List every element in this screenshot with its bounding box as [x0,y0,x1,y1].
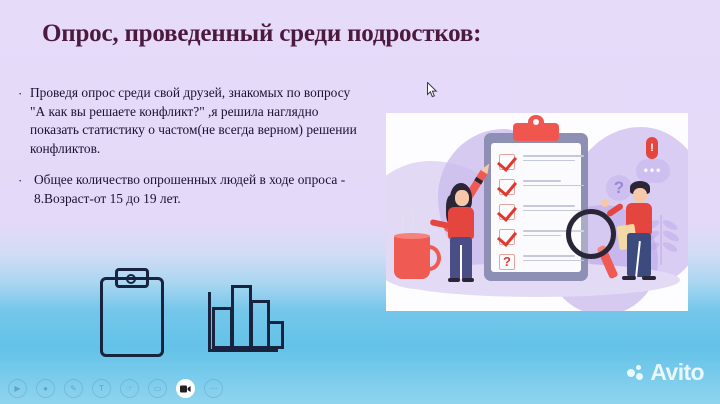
shoe [462,278,474,282]
pen-button[interactable]: ✎ [64,379,83,398]
chart-x-axis [208,349,278,352]
face [455,190,469,206]
video-camera-button[interactable] [176,379,195,398]
video-camera-icon [180,385,191,393]
avito-logo-icon [627,365,645,381]
exclamation-bubble: ! [646,137,658,159]
illustration-canvas: ! ••• ? [386,113,688,311]
bullet-text: Общее количество опрошенных людей в ходе… [30,171,358,208]
checklist-row [499,151,587,173]
presentation-slide: Опрос, проведенный среди подростков: · П… [0,0,720,404]
chart-y-axis [208,292,211,352]
clipboard-icon [100,277,164,357]
clipboard-clip [513,123,559,141]
face [633,188,647,203]
steam-wisp [412,205,415,233]
checkmark-icon [499,154,515,170]
coffee-mug [394,235,430,279]
question-mark-icon: ? [499,254,515,270]
text-button[interactable]: T [92,379,111,398]
frame-button[interactable]: ▭ [148,379,167,398]
text-lines [523,180,587,189]
clipboard-paper: ? [491,143,581,272]
clipboard-hole-icon [126,274,136,284]
dots-bubble: ••• [636,159,670,183]
shoe [448,278,460,282]
text-lines [523,255,587,264]
play-button[interactable]: ▶ [8,379,27,398]
avito-watermark: Avito [627,359,704,386]
chart-bar [212,307,233,349]
bullet-list: · Проведя опрос среди свой друзей, знако… [18,84,358,222]
chart-bar [231,285,252,349]
text-lines [523,155,587,164]
checklist-row: ? [499,251,587,273]
leg-split [460,245,462,279]
bullet-marker: · [18,84,30,103]
mouse-pointer [427,82,438,98]
shoe [642,276,656,280]
hand [601,199,609,207]
checklist-clipboard: ? [484,133,588,281]
woman-figure [438,183,486,287]
bullet-text: Проведя опрос среди свой друзей, знакомы… [30,84,358,158]
mug-rim [394,233,430,239]
page-title: Опрос, проведенный среди подростков: [42,20,481,48]
checkmark-icon [499,179,515,195]
checklist-row [499,176,587,198]
more-button[interactable]: ⋯ [204,379,223,398]
steam-wisp [402,209,405,233]
checkmark-icon [499,204,515,220]
shoe [622,276,636,280]
bar-chart-icon [208,276,278,352]
survey-illustration: ! ••• ? [386,113,688,311]
checkmark-icon [499,229,515,245]
player-toolbar[interactable]: ▶ ● ✎ T ☞ ▭ ⋯ [8,379,223,398]
list-item: · Проведя опрос среди свой друзей, знако… [18,84,358,158]
jacket [448,207,474,239]
pointer-button[interactable]: ☞ [120,379,139,398]
record-button[interactable]: ● [36,379,55,398]
chart-bar [267,321,284,349]
bullet-marker: · [18,171,30,190]
man-figure [616,181,660,287]
watermark-text: Avito [650,359,704,386]
list-item: · Общее количество опрошенных людей в хо… [18,171,358,208]
